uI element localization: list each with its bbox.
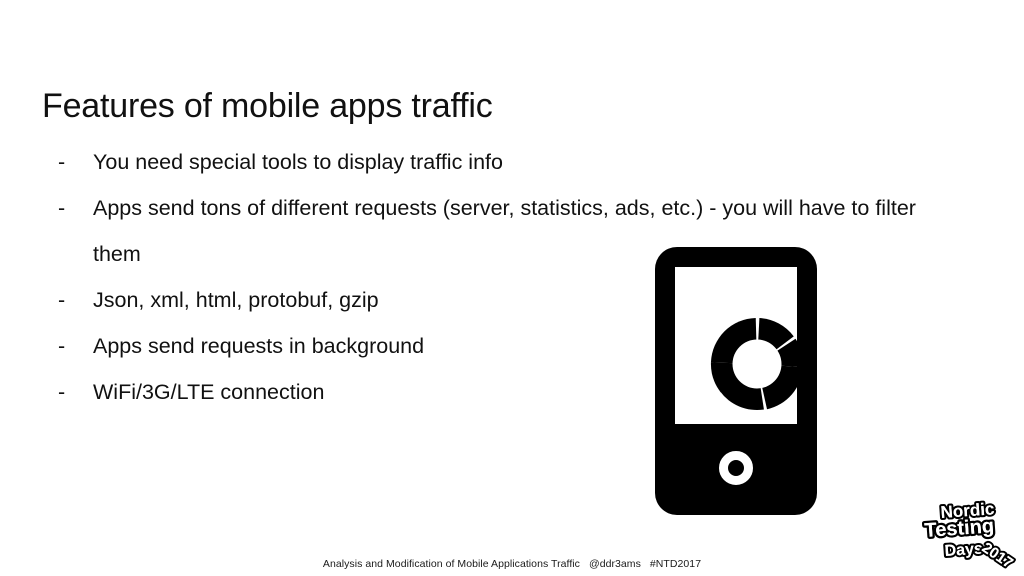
bullet-dash-icon: - [58, 185, 93, 231]
bullet-dash-icon: - [58, 369, 93, 415]
list-item-label: You need special tools to display traffi… [93, 139, 958, 185]
logo-line-days-fill: Days [944, 540, 983, 560]
home-button-icon [719, 451, 753, 485]
logo-year-fill: 2017 [979, 539, 1016, 570]
list-item-label: Json, xml, html, protobuf, gzip [93, 277, 958, 323]
list-item: - WiFi/3G/LTE connection [58, 369, 958, 415]
logo-line-testing-fill: Testing [924, 515, 995, 542]
list-item: - You need special tools to display traf… [58, 139, 958, 185]
footer: Analysis and Modification of Mobile Appl… [0, 557, 1024, 571]
pie-chart-icon [709, 316, 805, 412]
list-item-label: WiFi/3G/LTE connection [93, 369, 958, 415]
footer-handle: @ddr3ams [589, 558, 641, 570]
mobile-phone-icon [655, 247, 817, 515]
bullet-dash-icon: - [58, 323, 93, 369]
list-item: - Apps send tons of different requests (… [58, 185, 958, 277]
phone-screen [675, 267, 797, 424]
list-item: - Json, xml, html, protobuf, gzip [58, 277, 958, 323]
slide-canvas: Features of mobile apps traffic - You ne… [0, 0, 1024, 576]
bullet-dash-icon: - [58, 139, 93, 185]
list-item-label: Apps send tons of different requests (se… [93, 185, 953, 277]
bullet-list: - You need special tools to display traf… [58, 139, 958, 415]
page-title: Features of mobile apps traffic [42, 85, 493, 127]
bullet-dash-icon: - [58, 277, 93, 323]
list-item-label: Apps send requests in background [93, 323, 958, 369]
nordic-testing-days-logo: Nordic Nordic Testing Testing Days Days … [921, 500, 1017, 570]
list-item: - Apps send requests in background [58, 323, 958, 369]
footer-talk-title: Analysis and Modification of Mobile Appl… [323, 558, 580, 570]
footer-hashtag: #NTD2017 [650, 558, 701, 570]
